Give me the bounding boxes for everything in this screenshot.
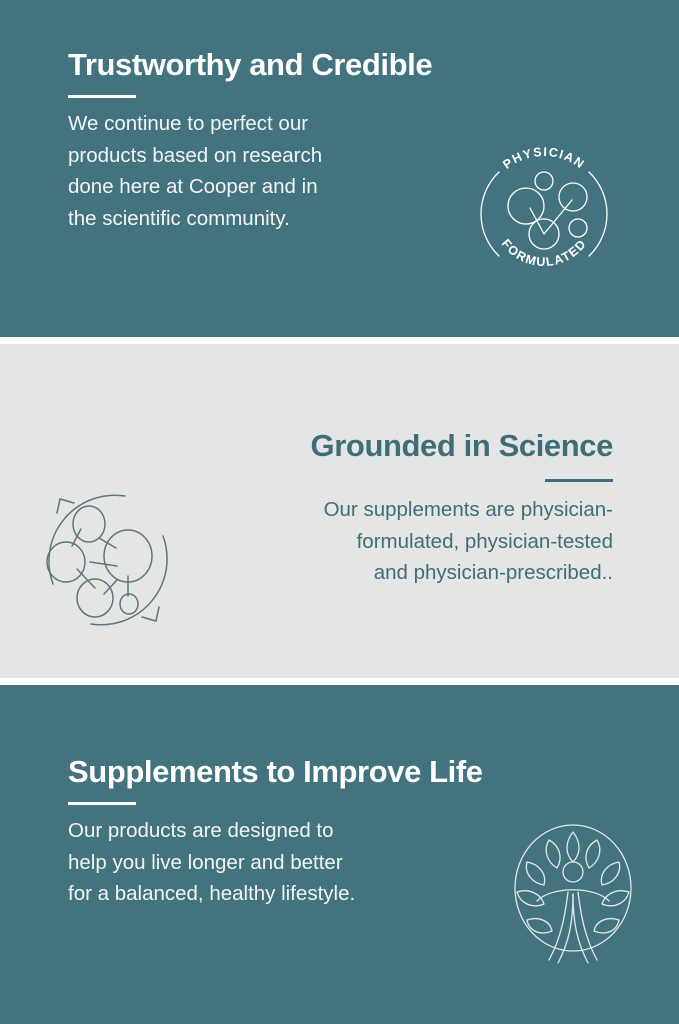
- section-trustworthy-and-credible: Trustworthy and Credible We continue to …: [0, 0, 679, 337]
- physician-formulated-badge-icon: PHYSICIAN FORMULATED: [468, 138, 620, 290]
- physician-badge-svg: PHYSICIAN FORMULATED: [468, 138, 620, 290]
- grounded-text-block: Grounded in Science Our supplements are …: [311, 429, 613, 589]
- supplements-divider: [68, 802, 136, 805]
- section-grounded-in-science: Grounded in Science Our supplements are …: [0, 344, 679, 678]
- tree-of-life-person-icon: [503, 818, 643, 968]
- grounded-divider: [545, 479, 613, 482]
- svg-text:FORMULATED: FORMULATED: [499, 236, 590, 269]
- molecule-cycle-icon: [33, 484, 183, 634]
- trustworthy-divider: [68, 95, 136, 98]
- supplements-text-block: Supplements to Improve Life Our products…: [68, 755, 483, 910]
- tree-of-life-svg: [503, 818, 643, 968]
- infographic-page: Trustworthy and Credible We continue to …: [0, 0, 679, 1024]
- trustworthy-text-block: Trustworthy and Credible We continue to …: [68, 48, 432, 234]
- supplements-body-text: Our products are designed to help you li…: [68, 815, 483, 910]
- supplements-heading: Supplements to Improve Life: [68, 755, 483, 788]
- svg-text:PHYSICIAN: PHYSICIAN: [500, 145, 587, 172]
- section-supplements-to-improve-life: Supplements to Improve Life Our products…: [0, 685, 679, 1024]
- trustworthy-body-text: We continue to perfect our products base…: [68, 108, 432, 234]
- trustworthy-heading: Trustworthy and Credible: [68, 48, 432, 81]
- grounded-heading: Grounded in Science: [311, 429, 613, 462]
- grounded-body-text: Our supplements are physician- formulate…: [311, 494, 613, 589]
- molecule-cycle-svg: [33, 484, 183, 634]
